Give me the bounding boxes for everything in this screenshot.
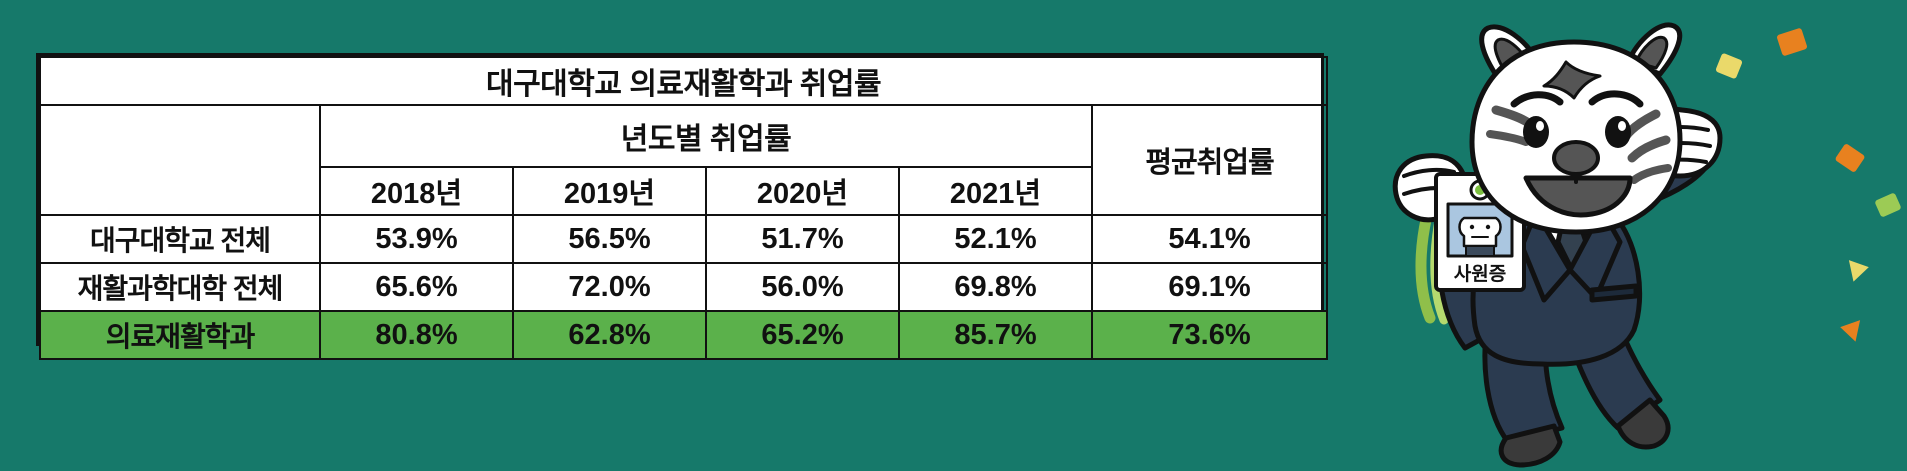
confetti-triangle-yellow-3 [1600, 265, 1617, 285]
table-row: 대구대학교 전체 53.9% 56.5% 51.7% 52.1% 54.1% [40, 215, 1327, 263]
cell-university-total-2019: 56.5% [513, 215, 706, 263]
cell-rehab-college-2021: 69.8% [899, 263, 1092, 311]
cell-medical-rehab-average: 73.6% [1092, 311, 1327, 359]
confetti-yellow-1 [1715, 53, 1743, 80]
page-title: 대구대학교 의료재활학과 취업률 [40, 57, 1327, 105]
cell-rehab-college-average: 69.1% [1092, 263, 1327, 311]
row-label-medical-rehab-dept: 의료재활학과 [40, 311, 320, 359]
table-title-row: 대구대학교 의료재활학과 취업률 [40, 57, 1327, 105]
cell-university-total-average: 54.1% [1092, 215, 1327, 263]
cell-medical-rehab-2020: 65.2% [706, 311, 899, 359]
cell-rehab-college-2018: 65.6% [320, 263, 513, 311]
employment-rate-table-container: 대구대학교 의료재활학과 취업률 년도별 취업률 평균취업률 2018년 201… [36, 53, 1324, 346]
table-row-highlighted: 의료재활학과 80.8% 62.8% 65.2% 85.7% 73.6% [40, 311, 1327, 359]
year-header-2020: 2020년 [706, 167, 899, 215]
cell-medical-rehab-2018: 80.8% [320, 311, 513, 359]
year-header-2019: 2019년 [513, 167, 706, 215]
employment-rate-table: 대구대학교 의료재활학과 취업률 년도별 취업률 평균취업률 2018년 201… [39, 56, 1328, 360]
confetti-triangle-yellow-2 [1849, 256, 1871, 281]
table-group-header-row: 년도별 취업률 평균취업률 [40, 105, 1327, 167]
group-header-yearly-rate: 년도별 취업률 [320, 105, 1092, 167]
confetti-orange-2 [1834, 143, 1865, 173]
corner-blank-cell [40, 105, 320, 215]
cell-rehab-college-2020: 56.0% [706, 263, 899, 311]
row-label-university-total: 대구대학교 전체 [40, 215, 320, 263]
cell-university-total-2018: 53.9% [320, 215, 513, 263]
confetti-orange-1 [1776, 28, 1808, 57]
confetti-triangle-yellow-1 [1838, 316, 1860, 341]
confetti-triangle-yellow-4 [1587, 204, 1605, 226]
confetti-green-1 [1615, 78, 1649, 107]
cell-rehab-college-2019: 72.0% [513, 263, 706, 311]
year-header-2018: 2018년 [320, 167, 513, 215]
table-row: 재활과학대학 전체 65.6% 72.0% 56.0% 69.8% 69.1% [40, 263, 1327, 311]
badge-label: 사원증 [1454, 263, 1506, 285]
cell-university-total-2021: 52.1% [899, 215, 1092, 263]
row-label-rehab-college-total: 재활과학대학 전체 [40, 263, 320, 311]
cell-medical-rehab-2021: 85.7% [899, 311, 1092, 359]
cell-medical-rehab-2019: 62.8% [513, 311, 706, 359]
mascot-illustration: 사원증 [1330, 18, 1800, 468]
cell-university-total-2020: 51.7% [706, 215, 899, 263]
year-header-2021: 2021년 [899, 167, 1092, 215]
confetti-green-2 [1488, 70, 1516, 96]
group-header-average-rate: 평균취업률 [1092, 105, 1327, 215]
confetti-green-3 [1874, 192, 1901, 217]
